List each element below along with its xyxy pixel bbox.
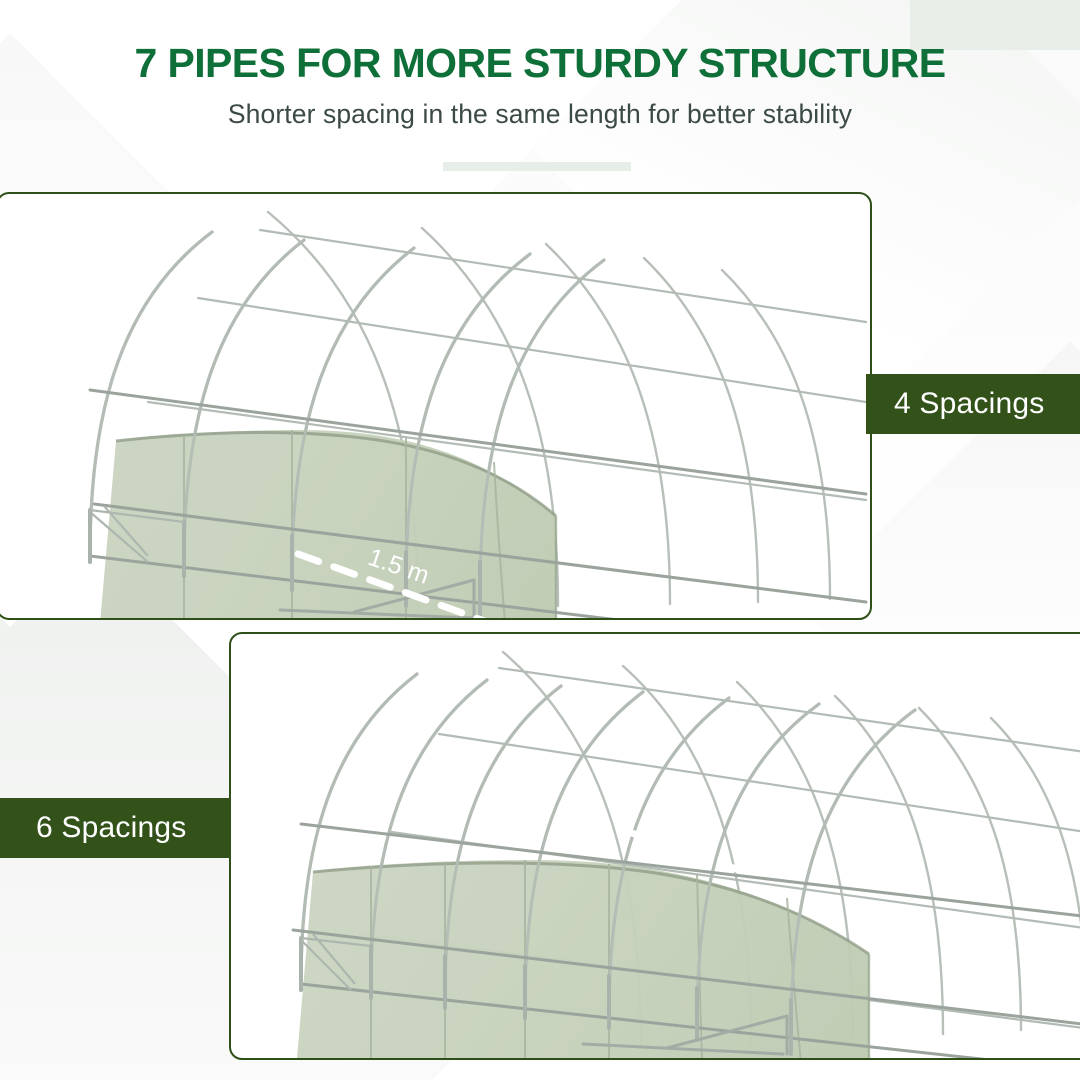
- greenhouse-illustration-6-spacings: 1 m: [231, 634, 1080, 1058]
- page-subtitle: Shorter spacing in the same length for b…: [0, 85, 1080, 130]
- greenhouse-illustration-4-spacings: 1.5 m: [0, 194, 870, 618]
- badge-6-spacings-label: 6 Spacings: [36, 811, 186, 845]
- badge-6-spacings[interactable]: 6 Spacings: [0, 798, 231, 858]
- panel-4-spacings: 1.5 m: [0, 192, 872, 620]
- title-divider: [443, 162, 631, 171]
- header: 7 PIPES FOR MORE STURDY STRUCTURE Shorte…: [0, 0, 1080, 130]
- page-title: 7 PIPES FOR MORE STURDY STRUCTURE: [0, 0, 1080, 85]
- cover-sheet: [94, 430, 556, 618]
- infographic-root: 7 PIPES FOR MORE STURDY STRUCTURE Shorte…: [0, 0, 1080, 1080]
- badge-4-spacings-label: 4 Spacings: [894, 387, 1044, 421]
- panel-6-spacings: 1 m: [229, 632, 1080, 1060]
- badge-4-spacings[interactable]: 4 Spacings: [866, 374, 1080, 434]
